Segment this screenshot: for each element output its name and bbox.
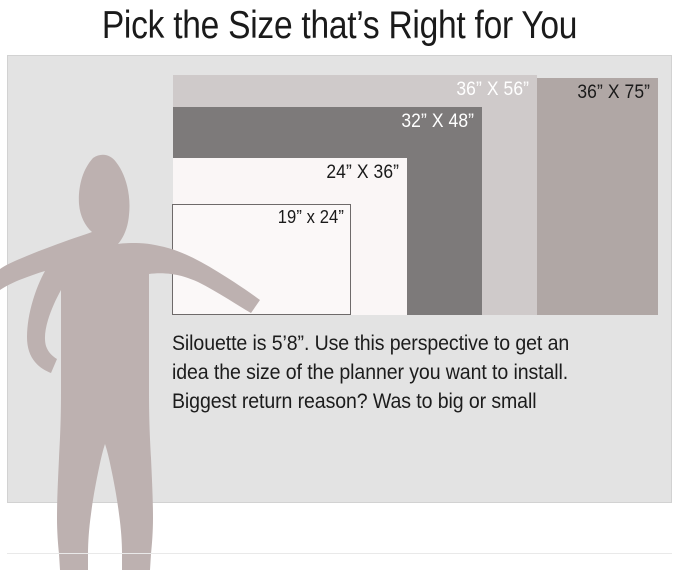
description-text: Silouette is 5’8”. Use this perspective … [172, 329, 628, 416]
size-label-32x48: 32” X 48” [401, 111, 474, 133]
size-label-24x36: 24” X 36” [326, 162, 399, 184]
floor-line [7, 553, 672, 554]
description-line-1: Silouette is 5’8”. Use this perspective … [172, 329, 628, 358]
size-label-36x56: 36” X 56” [456, 79, 529, 101]
description-line-2: idea the size of the planner you want to… [172, 358, 628, 387]
size-label-36x75: 36” X 75” [577, 82, 650, 104]
size-rect-36x75[interactable]: 36” X 75” [537, 78, 658, 315]
size-label-19x24: 19” x 24” [278, 207, 344, 228]
page-title: Pick the Size that’s Right for You [48, 0, 632, 52]
description-line-3: Biggest return reason? Was to big or sma… [172, 387, 628, 416]
